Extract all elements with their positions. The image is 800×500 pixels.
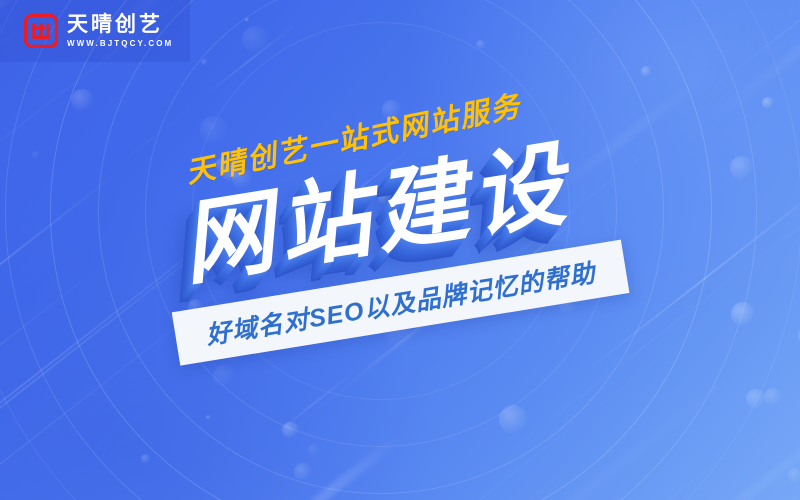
banner-canvas: 天晴创艺 WWW.BJTQCY.COM 天晴创艺一站式网站服务 网站建设 好域名…: [0, 0, 800, 500]
hero-text-group: 天晴创艺一站式网站服务 网站建设 好域名对SEO以及品牌记忆的帮助: [0, 0, 800, 500]
